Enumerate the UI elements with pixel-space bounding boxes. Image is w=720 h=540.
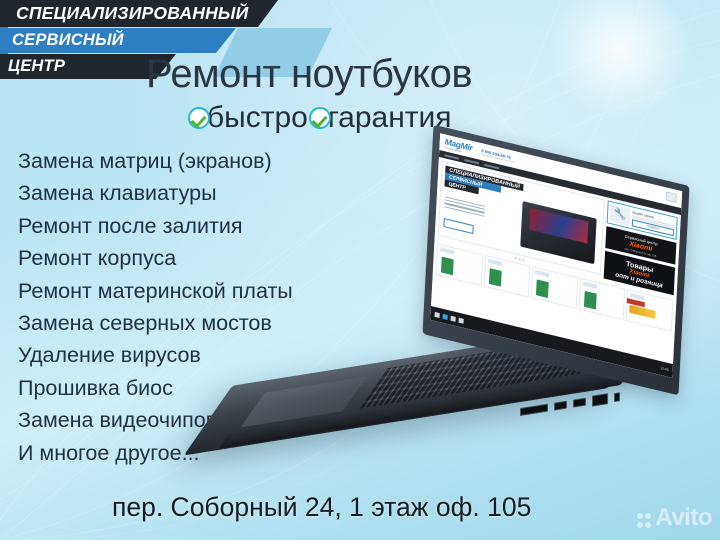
benefit-label-fast: быстро: [207, 101, 308, 135]
advertisement-poster: СПЕЦИАЛИЗИРОВАННЫЙ СЕРВИСНЫЙ ЦЕНТР Ремон…: [0, 0, 720, 540]
avito-logo-icon: [637, 511, 652, 529]
taskbar-app-icon: [451, 315, 456, 321]
product-image: [488, 268, 501, 287]
vga-port-icon: [592, 393, 608, 407]
avito-watermark: Avito: [637, 504, 712, 532]
benefits-row: быстро гарантия: [188, 101, 453, 135]
site-sidebar: 🔧 MagMir сервис Перейти Сервисный центр: [604, 200, 678, 297]
avito-watermark-text: Avito: [655, 504, 712, 532]
check-circle-icon: [188, 107, 210, 129]
hero-laptop-image: [520, 201, 596, 264]
address-line: пер. Соборный 24, 1 этаж оф. 105: [112, 492, 531, 523]
laptop-screen: MagMir интернет-магазин 8 800 234-56-78 …: [430, 133, 682, 378]
sd-card-slot-icon: [520, 404, 548, 416]
check-circle-icon: [309, 107, 331, 129]
service-promo-text: MagMir сервис Перейти: [632, 210, 675, 236]
product-image: [441, 257, 454, 276]
lock-slot-icon: [614, 392, 620, 402]
carousel-dot: [514, 257, 516, 259]
hero-cta-button: [443, 218, 473, 234]
hero-text-lines: [444, 196, 485, 218]
laptop-illustration: MagMir интернет-магазин 8 800 234-56-78 …: [196, 150, 696, 480]
carousel-dot: [518, 258, 520, 260]
taskbar-app-icon: [459, 317, 464, 323]
product-image: [536, 279, 549, 298]
usb-port-icon: [554, 401, 567, 411]
product-tag: [440, 247, 454, 254]
taskbar-clock: 12:45: [660, 366, 669, 372]
carousel-dot: [522, 259, 524, 261]
product-image: [584, 291, 597, 310]
usb-port-icon: [573, 398, 586, 408]
product-tag: [488, 259, 502, 266]
taskbar-app-icon: [443, 313, 448, 319]
ribbon-line-1: СПЕЦИАЛИЗИРОВАННЫЙ: [0, 0, 278, 27]
product-tag: [583, 281, 597, 288]
headline: Ремонт ноутбуков: [146, 52, 566, 97]
start-button-icon: [435, 311, 440, 317]
tools-icon: 🔧: [610, 204, 631, 226]
ribbon-line-2: СЕРВИСНЫЙ: [0, 28, 236, 53]
cart-icon: [666, 191, 677, 203]
product-tag: [535, 270, 549, 277]
